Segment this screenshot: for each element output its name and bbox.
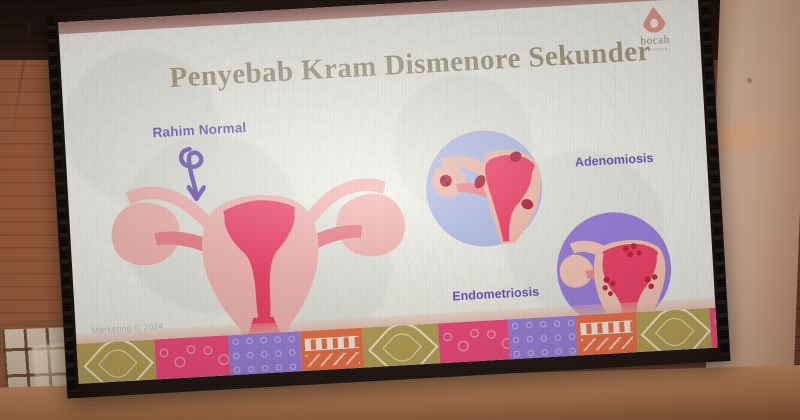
curly-arrow-icon [169,141,224,206]
droplet-icon [642,6,665,33]
label-rahim-normal: Rahim Normal [152,120,247,140]
batik-cell [76,339,156,383]
pillar-fixture [747,78,752,83]
batik-cell [576,312,638,355]
presentation-slide: Penyebab Kram Dismenore Sekunder bocah i… [58,0,717,384]
page-title: Penyebab Kram Dismenore Sekunder [169,33,680,95]
batik-cell [362,323,440,367]
batik-cell [508,316,578,360]
projection-screen: Penyebab Kram Dismenore Sekunder bocah i… [46,0,731,399]
batik-cell [154,335,230,379]
label-endometriosis: Endometriosis [452,285,539,304]
uterus-adenomyosis-illustration [417,123,552,258]
label-adenomiosis: Adenomiosis [575,151,654,169]
batik-cell [300,328,364,371]
batik-cell [438,319,510,363]
batik-cell [228,331,302,375]
brand-logo: bocah indonesia [630,5,678,53]
batik-cell [636,308,712,352]
